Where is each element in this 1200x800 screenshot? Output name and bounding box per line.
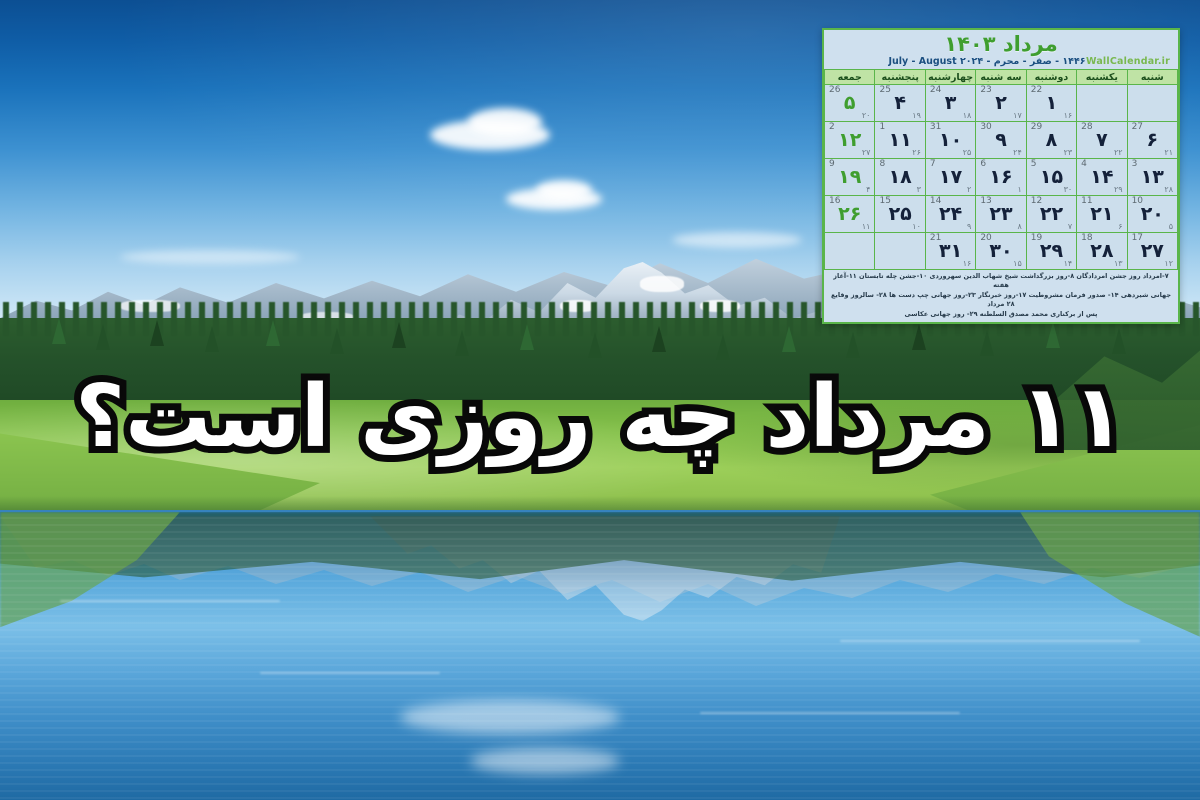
- calendar-occasion-notes: ۷-امرداد روز جشن امردادگان ۸-روز بزرگداش…: [824, 270, 1178, 322]
- calendar-day-cell[interactable]: 5۱۵۳۰: [1026, 159, 1076, 196]
- calendar-day-cell[interactable]: 25۴۱۹: [875, 85, 925, 122]
- screenshot-canvas: مرداد ۱۴۰۳ WallCalendar.ir ۱۴۴۶ - صفر - …: [0, 0, 1200, 800]
- day-cell-content: 2۱۲۲۷: [825, 122, 874, 158]
- hijri-day: ۲۸: [1164, 186, 1173, 194]
- day-cell-content: 23۲۱۷: [976, 85, 1025, 121]
- calendar-day-cell[interactable]: 9۱۹۴: [825, 159, 875, 196]
- hijri-day: ۱۹: [912, 112, 921, 120]
- hijri-day: ۱۱: [862, 223, 871, 231]
- day-cell-content: 16۲۶۱۱: [825, 196, 874, 232]
- calendar-month-title: مرداد ۱۴۰۳: [832, 33, 1170, 55]
- tree: [652, 326, 666, 352]
- calendar-day-cell[interactable]: 12۲۲۷: [1026, 196, 1076, 233]
- calendar-weekday-2: دوشنبه: [1026, 70, 1076, 85]
- occasion-note-line: جهانی شیردهی ۱۴- صدور فرمان مشروطیت ۱۷-ر…: [829, 291, 1173, 310]
- hijri-day: ۲۱: [1164, 149, 1173, 157]
- day-cell-content: 26۵۲۰: [825, 85, 874, 121]
- hijri-day: ۱۸: [963, 112, 972, 120]
- calendar-empty-cell: [1127, 85, 1177, 122]
- day-cell-content: 3۱۳۲۸: [1128, 159, 1177, 195]
- calendar-header: مرداد ۱۴۰۳ WallCalendar.ir ۱۴۴۶ - صفر - …: [824, 30, 1178, 69]
- page-title: ۱۱ مرداد چه روزی است؟: [0, 372, 1200, 462]
- hijri-day: ۱۶: [963, 260, 972, 268]
- day-cell-content: 1۱۱۲۶: [875, 122, 924, 158]
- tree: [52, 318, 66, 344]
- calendar-day-cell[interactable]: 29۸۲۳: [1026, 122, 1076, 159]
- tree: [1112, 328, 1126, 354]
- hijri-day: ۵: [1169, 223, 1173, 231]
- calendar-weekday-header-row: شنبهیکشنبهدوشنبهسه شنبهچهارشنبهپنجشنبهجم…: [825, 70, 1178, 85]
- day-cell-content: 15۲۵۱۰: [875, 196, 924, 232]
- calendar-day-cell[interactable]: 4۱۴۲۹: [1077, 159, 1127, 196]
- day-cell-content: 27۶۲۱: [1128, 122, 1177, 158]
- tree: [588, 332, 602, 358]
- calendar-day-cell[interactable]: 10۲۰۵: [1127, 196, 1177, 233]
- day-cell-content: 30۹۲۴: [976, 122, 1025, 158]
- day-cell-content: 5۱۵۳۰: [1027, 159, 1076, 195]
- calendar-day-cell[interactable]: 13۲۳۸: [976, 196, 1026, 233]
- hijri-day: ۲۷: [862, 149, 871, 157]
- tree: [205, 326, 219, 352]
- day-cell-content: 19۲۹۱۴: [1027, 233, 1076, 269]
- hijri-day: ۲۲: [1114, 149, 1123, 157]
- day-cell-content: 29۸۲۳: [1027, 122, 1076, 158]
- day-cell-content: 11۲۱۶: [1077, 196, 1126, 232]
- calendar-site-logo[interactable]: WallCalendar.ir: [1086, 56, 1170, 67]
- calendar-week-row: 3۱۳۲۸4۱۴۲۹5۱۵۳۰6۱۶۱7۱۷۲8۱۸۳9۱۹۴: [825, 159, 1178, 196]
- tree: [980, 330, 994, 356]
- hijri-day: ۲۹: [1114, 186, 1123, 194]
- calendar-day-cell[interactable]: 20۳۰۱۵: [976, 233, 1026, 270]
- tree: [150, 320, 164, 346]
- day-cell-content: 12۲۲۷: [1027, 196, 1076, 232]
- calendar-day-cell[interactable]: 22۱۱۶: [1026, 85, 1076, 122]
- tree: [96, 324, 110, 350]
- calendar-day-cell[interactable]: 30۹۲۴: [976, 122, 1026, 159]
- calendar-weekday-4: چهارشنبه: [925, 70, 975, 85]
- cloud: [536, 180, 592, 200]
- calendar-week-row: 27۶۲۱28۷۲۲29۸۲۳30۹۲۴31۱۰۲۵1۱۱۲۶2۱۲۲۷: [825, 122, 1178, 159]
- hijri-day: ۱۶: [1064, 112, 1073, 120]
- tree: [520, 324, 534, 350]
- calendar-weekday-3: سه شنبه: [976, 70, 1026, 85]
- day-cell-content: 25۴۱۹: [875, 85, 924, 121]
- hijri-day: ۸: [1017, 223, 1021, 231]
- calendar-day-cell[interactable]: 17۲۷۱۲: [1127, 233, 1177, 270]
- calendar-day-cell[interactable]: 19۲۹۱۴: [1026, 233, 1076, 270]
- calendar-weekday-1: یکشنبه: [1077, 70, 1127, 85]
- calendar-day-cell[interactable]: 14۲۴۹: [925, 196, 975, 233]
- occasion-note-line: پس از برکناری محمد مصدق السلطنه ۲۹- روز …: [829, 310, 1173, 319]
- hijri-day: ۲۰: [862, 112, 871, 120]
- hijri-day: ۲۵: [963, 149, 972, 157]
- tree: [455, 330, 469, 356]
- hijri-day: ۱۲: [1164, 260, 1173, 268]
- calendar-day-cell[interactable]: 11۲۱۶: [1077, 196, 1127, 233]
- calendar-week-row: 17۲۷۱۲18۲۸۱۳19۲۹۱۴20۳۰۱۵21۳۱۱۶: [825, 233, 1178, 270]
- day-cell-content: 28۷۲۲: [1077, 122, 1126, 158]
- water-sheen: [0, 510, 1200, 800]
- day-cell-content: 6۱۶۱: [976, 159, 1025, 195]
- cloud: [120, 250, 300, 264]
- day-cell-content: 9۱۹۴: [825, 159, 874, 195]
- calendar-day-cell[interactable]: 2۱۲۲۷: [825, 122, 875, 159]
- calendar-day-cell[interactable]: 28۷۲۲: [1077, 122, 1127, 159]
- tree: [912, 324, 926, 350]
- calendar-week-row: 10۲۰۵11۲۱۶12۲۲۷13۲۳۸14۲۴۹15۲۵۱۰16۲۶۱۱: [825, 196, 1178, 233]
- hijri-day: ۲: [967, 186, 971, 194]
- day-cell-content: 10۲۰۵: [1128, 196, 1177, 232]
- calendar-week-row: 22۱۱۶23۲۱۷24۳۱۸25۴۱۹26۵۲۰: [825, 85, 1178, 122]
- hijri-day: ۲۴: [1013, 149, 1022, 157]
- hijri-day: ۴: [866, 186, 870, 194]
- calendar-day-cell[interactable]: 3۱۳۲۸: [1127, 159, 1177, 196]
- day-cell-content: 22۱۱۶: [1027, 85, 1076, 121]
- calendar-day-cell[interactable]: 24۳۱۸: [925, 85, 975, 122]
- day-cell-content: 18۲۸۱۳: [1077, 233, 1126, 269]
- tree: [782, 326, 796, 352]
- day-cell-content: 17۲۷۱۲: [1128, 233, 1177, 269]
- calendar-day-cell[interactable]: 8۱۸۳: [875, 159, 925, 196]
- hijri-day: ۲۶: [912, 149, 921, 157]
- tree: [330, 328, 344, 354]
- hijri-day: ۱۰: [912, 223, 921, 231]
- hijri-day: ۹: [967, 223, 971, 231]
- calendar-day-cell[interactable]: 15۲۵۱۰: [875, 196, 925, 233]
- tree: [846, 332, 860, 358]
- cloud: [468, 108, 542, 136]
- tree: [716, 334, 730, 360]
- calendar-weekday-0: شنبه: [1127, 70, 1177, 85]
- hijri-day: ۲۳: [1064, 149, 1073, 157]
- day-cell-content: 13۲۳۸: [976, 196, 1025, 232]
- calendar-empty-cell: [875, 233, 925, 270]
- tree: [392, 322, 406, 348]
- calendar-empty-cell: [825, 233, 875, 270]
- calendar-day-cell[interactable]: 23۲۱۷: [976, 85, 1026, 122]
- calendar-day-cell[interactable]: 18۲۸۱۳: [1077, 233, 1127, 270]
- hijri-day: ۷: [1068, 223, 1072, 231]
- calendar-day-cell[interactable]: 7۱۷۲: [925, 159, 975, 196]
- tree: [266, 320, 280, 346]
- calendar-subheader: WallCalendar.ir ۱۴۴۶ - صفر - محرم - ۲۰۲۴…: [832, 56, 1170, 67]
- calendar-day-cell[interactable]: 26۵۲۰: [825, 85, 875, 122]
- wall-calendar: مرداد ۱۴۰۳ WallCalendar.ir ۱۴۴۶ - صفر - …: [822, 28, 1180, 324]
- tree: [1046, 322, 1060, 348]
- hijri-day: ۱: [1017, 186, 1021, 194]
- day-cell-content: 14۲۴۹: [926, 196, 975, 232]
- calendar-day-cell[interactable]: 16۲۶۱۱: [825, 196, 875, 233]
- hijri-day: ۱۵: [1013, 260, 1022, 268]
- hijri-day: ۱۷: [1013, 112, 1022, 120]
- hijri-day: ۱۳: [1114, 260, 1123, 268]
- occasion-note-line: ۷-امرداد روز جشن امردادگان ۸-روز بزرگداش…: [829, 272, 1173, 291]
- calendar-day-cell[interactable]: 6۱۶۱: [976, 159, 1026, 196]
- calendar-weekday-5: پنجشنبه: [875, 70, 925, 85]
- cloud: [672, 232, 802, 248]
- day-cell-content: 31۱۰۲۵: [926, 122, 975, 158]
- hijri-day: ۶: [1118, 223, 1122, 231]
- hijri-day: ۱۴: [1064, 260, 1073, 268]
- day-cell-content: 24۳۱۸: [926, 85, 975, 121]
- calendar-day-cell[interactable]: 31۱۰۲۵: [925, 122, 975, 159]
- calendar-gregorian-hijri-label: ۱۴۴۶ - صفر - محرم - ۲۰۲۴ July - August: [888, 56, 1085, 67]
- day-cell-content: 8۱۸۳: [875, 159, 924, 195]
- day-cell-content: 20۳۰۱۵: [976, 233, 1025, 269]
- day-cell-content: 4۱۴۲۹: [1077, 159, 1126, 195]
- calendar-grid: شنبهیکشنبهدوشنبهسه شنبهچهارشنبهپنجشنبهجم…: [824, 69, 1178, 270]
- hijri-day: ۳۰: [1064, 186, 1073, 194]
- day-cell-content: 7۱۷۲: [926, 159, 975, 195]
- calendar-day-cell[interactable]: 21۳۱۱۶: [925, 233, 975, 270]
- hijri-day: ۳: [917, 186, 921, 194]
- day-cell-content: 21۳۱۱۶: [926, 233, 975, 269]
- snow-cap: [640, 276, 684, 292]
- calendar-empty-cell: [1077, 85, 1127, 122]
- calendar-day-cell[interactable]: 1۱۱۲۶: [875, 122, 925, 159]
- calendar-day-cell[interactable]: 27۶۲۱: [1127, 122, 1177, 159]
- calendar-weekday-6: جمعه: [825, 70, 875, 85]
